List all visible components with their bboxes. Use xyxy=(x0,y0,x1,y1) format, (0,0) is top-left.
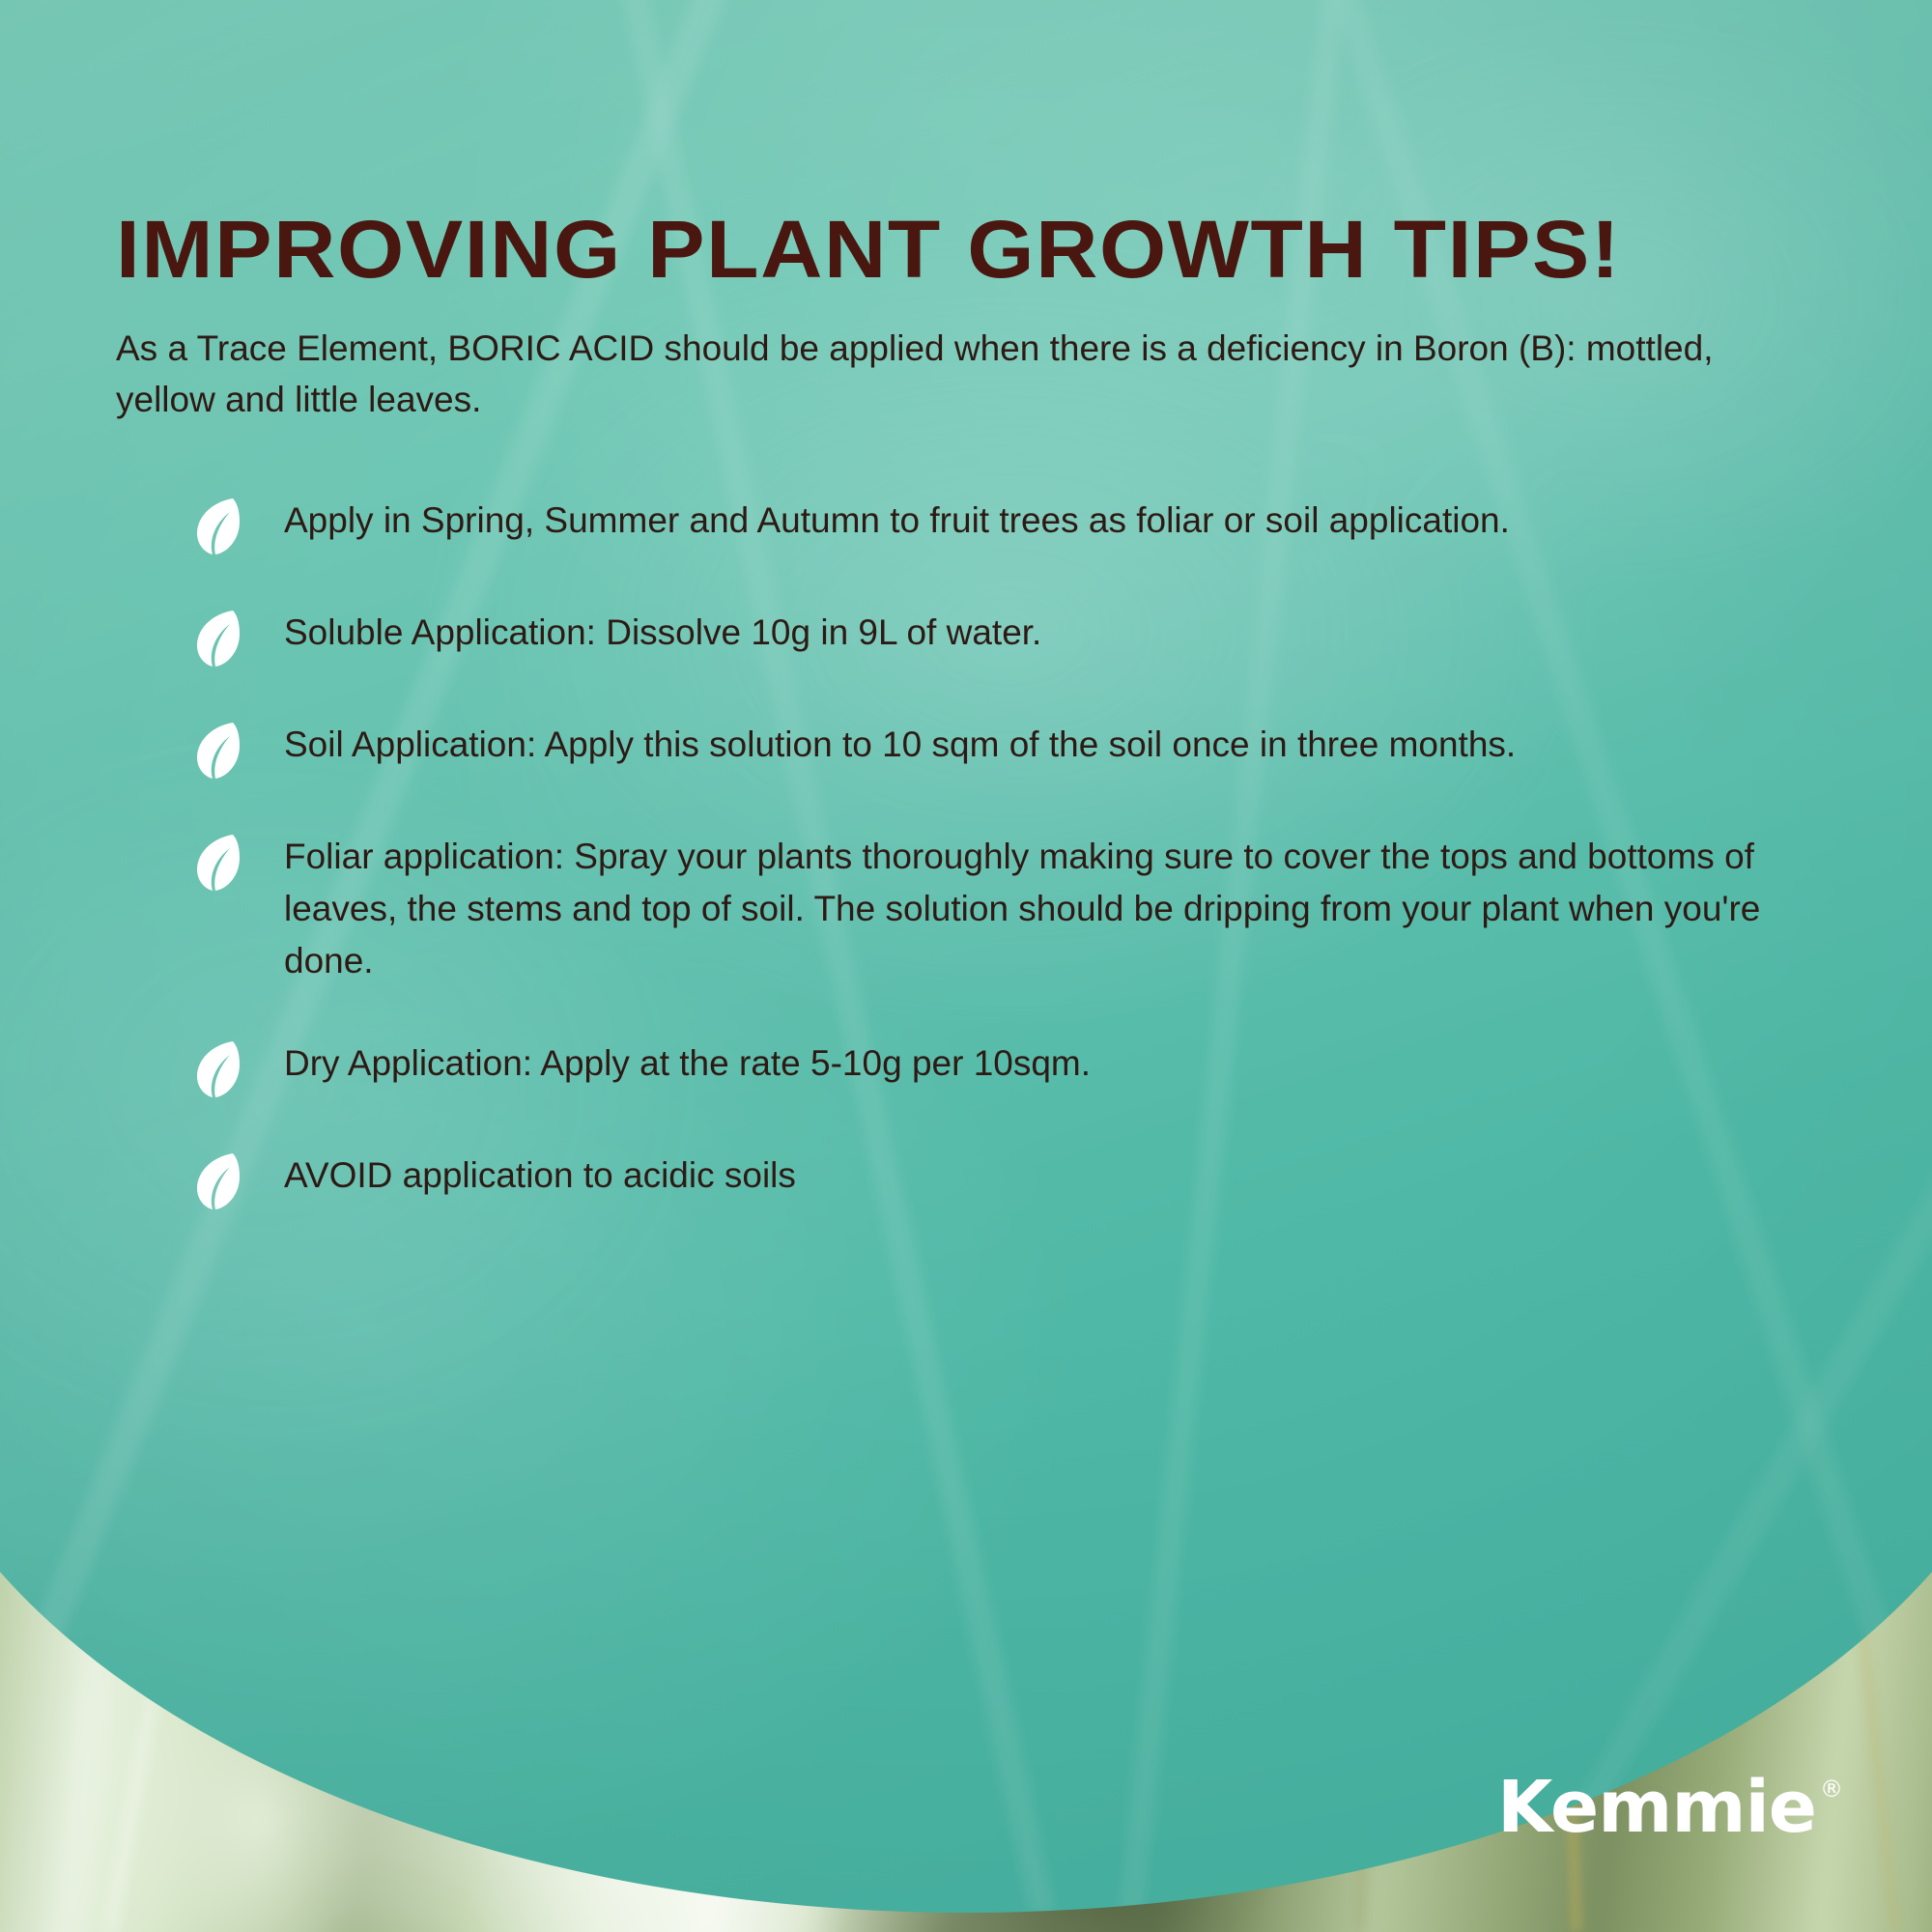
list-item: Dry Application: Apply at the rate 5-10g… xyxy=(193,1037,1874,1099)
list-item-label: Apply in Spring, Summer and Autumn to fr… xyxy=(284,495,1510,547)
list-item: AVOID application to acidic soils xyxy=(193,1150,1874,1211)
brand-logo-wordmark: Kemmie xyxy=(1497,1772,1816,1843)
intro-paragraph: As a Trace Element, BORIC ACID should be… xyxy=(116,324,1758,425)
leaf-icon xyxy=(193,1151,243,1211)
list-item-label: Dry Application: Apply at the rate 5-10g… xyxy=(284,1037,1091,1090)
list-item-label: Foliar application: Spray your plants th… xyxy=(284,831,1859,987)
page-title: IMPROVING PLANT GROWTH TIPS! xyxy=(116,209,1621,290)
list-item-label: AVOID application to acidic soils xyxy=(284,1150,796,1202)
leaf-icon xyxy=(193,833,243,893)
leaf-icon xyxy=(193,609,243,668)
list-item-label: Soil Application: Apply this solution to… xyxy=(284,719,1516,771)
tips-list: Apply in Spring, Summer and Autumn to fr… xyxy=(193,495,1874,1211)
registered-trademark-icon: ® xyxy=(1820,1777,1843,1801)
list-item: Foliar application: Spray your plants th… xyxy=(193,831,1874,987)
list-item-label: Soluble Application: Dissolve 10g in 9L … xyxy=(284,607,1041,659)
leaf-icon xyxy=(193,1039,243,1099)
list-item: Soil Application: Apply this solution to… xyxy=(193,719,1874,781)
poster-canvas: IMPROVING PLANT GROWTH TIPS! As a Trace … xyxy=(0,0,1932,1932)
list-item: Apply in Spring, Summer and Autumn to fr… xyxy=(193,495,1874,556)
leaf-icon xyxy=(193,721,243,781)
list-item: Soluble Application: Dissolve 10g in 9L … xyxy=(193,607,1874,668)
leaf-icon xyxy=(193,497,243,556)
brand-logo: Kemmie ® xyxy=(1497,1772,1843,1843)
